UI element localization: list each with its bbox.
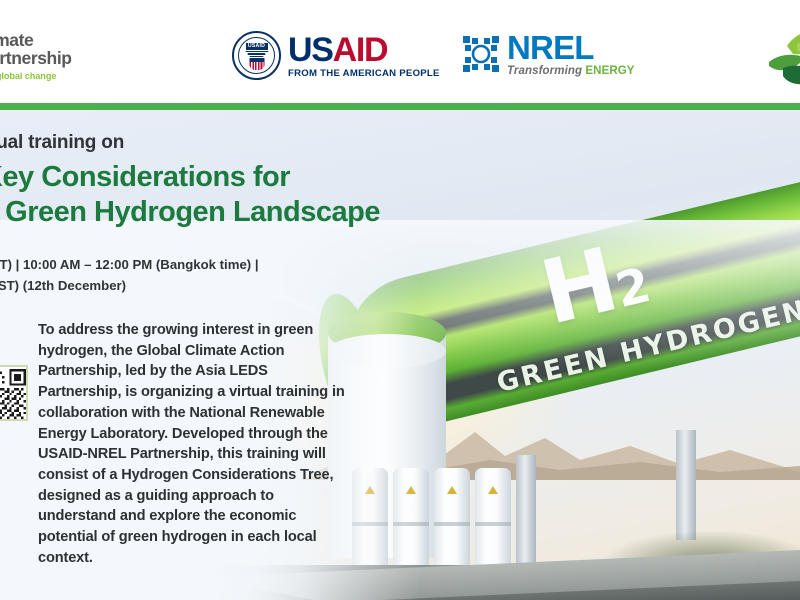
usaid-seal-icon: USAID (232, 31, 281, 80)
usaid-handshake-icon (245, 51, 268, 57)
usaid-shield-icon (249, 58, 264, 70)
support-pillar (676, 430, 696, 540)
usaid-word-aid: AID (333, 31, 388, 69)
nrel-wordmark: NREL Transforming ENERGY (507, 31, 635, 77)
qr-caption: e a (0, 425, 30, 434)
usaid-logo: USAID USAID FROM THE AMERICAN PEOPLE (232, 31, 440, 80)
promo-kicker: a virtual training on (0, 132, 124, 154)
promo-date-line-2: 0 AM (IST) | 10:00 AM – 12:00 PM (Bangko… (0, 255, 259, 275)
usaid-word-us: US (288, 31, 333, 69)
gcap-logo: l Climate n Partnership ership, global c… (0, 31, 134, 81)
promo-date-line-3: 0 PM (MST) (12th December) (0, 276, 259, 296)
registration-qr-code-icon[interactable] (0, 365, 28, 421)
usaid-wordmark: USAID FROM THE AMERICAN PEOPLE (288, 33, 440, 79)
promo-body-text: To address the growing interest in green… (38, 320, 350, 569)
nrel-tagline-energy: ENERGY (585, 65, 634, 77)
promo-date-line-1: er, 2023 (0, 235, 259, 255)
promo-title-line-1: ng Key Considerations for (0, 160, 380, 195)
logo-header: l Climate n Partnership ership, global c… (0, 0, 800, 103)
usaid-tagline: FROM THE AMERICAN PEOPLE (288, 68, 440, 79)
gcap-logo-line2: n Partnership (0, 49, 134, 67)
nrel-logo: NREL Transforming ENERGY (463, 31, 635, 77)
gcap-logo-line1: l Climate (0, 31, 134, 49)
nrel-tagline-transforming: Transforming (507, 65, 585, 77)
promo-title-line-2: ng a Green Hydrogen Landscape (0, 195, 380, 230)
green-divider-bar (0, 103, 800, 110)
nrel-pixel-icon (463, 36, 499, 72)
leaf-cluster-logo-icon (757, 28, 800, 90)
nrel-word: NREL (507, 29, 594, 66)
flyer-canvas: H2 GREEN HYDROGEN H2 (0, 0, 800, 600)
usaid-seal-band: USAID (246, 43, 268, 50)
promo-title: ng Key Considerations for ng a Green Hyd… (0, 160, 380, 231)
qr-block[interactable]: e a (0, 365, 30, 434)
promo-datetime: er, 2023 0 AM (IST) | 10:00 AM – 12:00 P… (0, 235, 259, 296)
gcap-logo-tagline: ership, global change (0, 71, 134, 81)
